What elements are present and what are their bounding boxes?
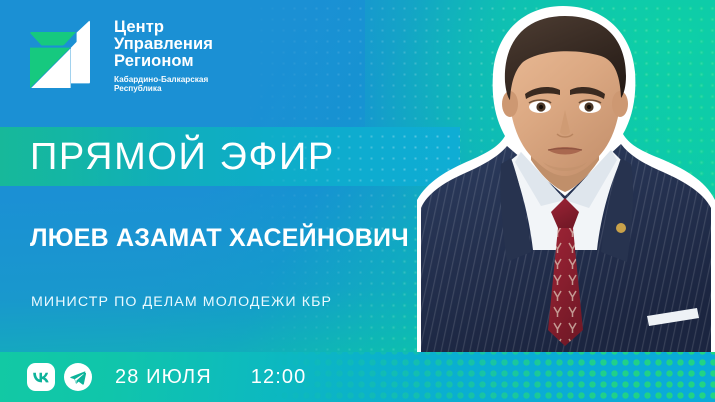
brand-text: Центр Управления Регионом Кабардино-Балк… [114,14,213,94]
brand-subtitle: Кабардино-Балкарская Республика [114,75,213,94]
vk-icon[interactable] [27,363,55,391]
footer-bar: 28 ИЮЛЯ 12:00 [0,352,715,402]
speaker-portrait [415,0,715,352]
footer-content: 28 ИЮЛЯ 12:00 [0,363,306,391]
brand-logo: Центр Управления Регионом Кабардино-Балк… [24,14,213,94]
live-broadcast-poster: Центр Управления Регионом Кабардино-Балк… [0,0,715,402]
brand-title: Центр Управления Регионом [114,19,213,70]
broadcast-date: 28 ИЮЛЯ [115,366,212,389]
broadcast-time: 12:00 [251,366,307,389]
speaker-role: МИНИСТР ПО ДЕЛАМ МОЛОДЕЖИ КБР [31,295,332,309]
cube-arrow-logo-icon [24,14,102,90]
live-label: ПРЯМОЙ ЭФИР [0,138,335,176]
live-banner-band: ПРЯМОЙ ЭФИР [0,127,460,186]
speaker-name: ЛЮЕВ АЗАМАТ ХАСЕЙНОВИЧ [30,226,409,251]
telegram-icon[interactable] [64,363,92,391]
